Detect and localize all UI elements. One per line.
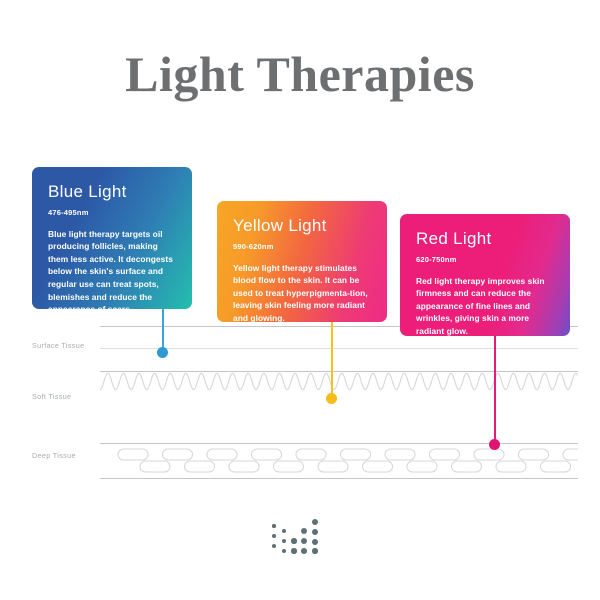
tissue-label-surface: Surface Tissue <box>32 342 98 349</box>
ornament-dot <box>301 538 307 544</box>
ornament-dot <box>301 548 307 554</box>
therapy-card-yellow-light[interactable]: Yellow Light 590-620nm Yellow light ther… <box>217 201 387 322</box>
ornament-dot <box>282 539 287 544</box>
connector-line-red <box>494 336 496 444</box>
ornament-dot <box>312 519 319 526</box>
card-wavelength-blue: 476-495nm <box>48 209 176 217</box>
card-description-blue: Blue light therapy targets oil producing… <box>48 228 176 310</box>
deep-tissue-cells <box>100 443 578 478</box>
ornament-dot <box>291 538 296 543</box>
card-title-yellow: Yellow Light <box>233 217 371 234</box>
card-wavelength-yellow: 590-620nm <box>233 243 371 251</box>
therapy-card-red-light[interactable]: Red Light 620-750nm Red light therapy im… <box>400 214 570 336</box>
card-wavelength-red: 620-750nm <box>416 256 554 264</box>
tissue-line-surface-mid <box>100 348 578 349</box>
card-title-blue: Blue Light <box>48 183 176 200</box>
ornament-dot <box>301 528 307 534</box>
depth-marker-red <box>489 439 500 450</box>
ornament-dot <box>312 539 318 545</box>
ornament-dot <box>282 529 287 534</box>
page-title: Light Therapies <box>0 48 600 101</box>
ornament-dot <box>312 529 319 536</box>
card-description-red: Red light therapy improves skin firmness… <box>416 275 554 337</box>
ornament-dot <box>272 544 276 548</box>
ornament-dot <box>312 548 317 553</box>
therapy-card-blue-light[interactable]: Blue Light 476-495nm Blue light therapy … <box>32 167 192 309</box>
ornament-dot <box>272 534 276 538</box>
depth-marker-blue <box>157 347 168 358</box>
soft-tissue-wave <box>100 371 578 393</box>
connector-line-yellow <box>331 322 333 398</box>
card-description-yellow: Yellow light therapy stimulates blood fl… <box>233 262 371 323</box>
ornament-dot <box>291 548 296 553</box>
tissue-label-deep: Deep Tissue <box>32 452 98 459</box>
tissue-label-soft: Soft Tissue <box>32 393 98 400</box>
connector-line-blue <box>162 309 164 352</box>
card-title-red: Red Light <box>416 230 554 247</box>
depth-marker-yellow <box>326 393 337 404</box>
decorative-dot-pattern <box>272 520 328 560</box>
ornament-dot <box>282 549 287 554</box>
tissue-line-deep-bottom <box>100 478 578 479</box>
infographic-poster: Light Therapies Surface Tissue Soft Tiss… <box>0 0 600 600</box>
ornament-dot <box>272 524 275 527</box>
